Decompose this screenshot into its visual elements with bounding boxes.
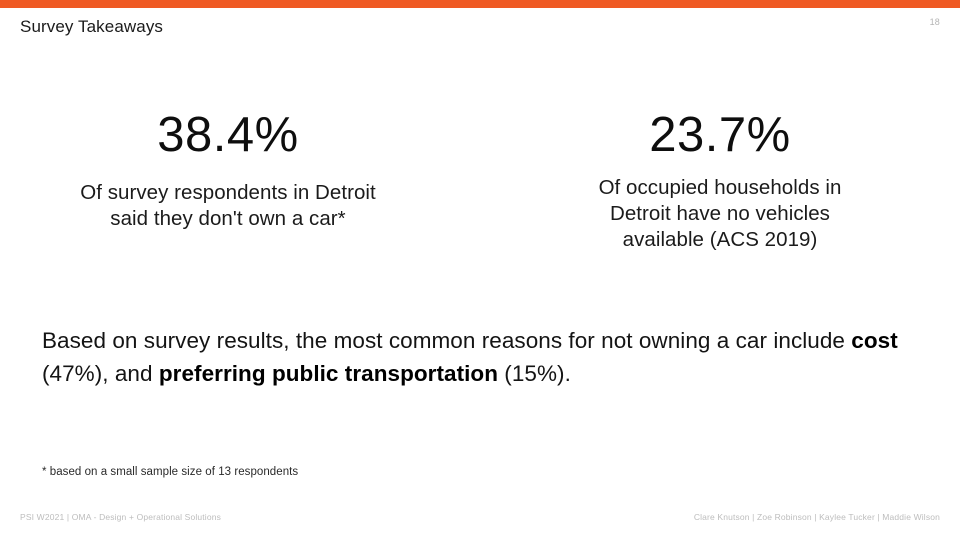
body-text-part2: (47%), and [42,361,159,386]
stat-value-occupied-households: 23.7% [510,106,930,164]
slide-canvas: Survey Takeaways 18 38.4% Of survey resp… [0,0,960,540]
stat-block-right: 23.7% Of occupied households in Detroit … [510,106,930,253]
body-text-part3: (15%). [498,361,571,386]
stat-caption-line: said they don't own a car* [18,206,438,232]
body-text-part1: Based on survey results, the most common… [42,328,851,353]
page-title: Survey Takeaways [20,17,163,37]
footnote: * based on a small sample size of 13 res… [42,466,298,478]
footer-authors: Clare Knutson | Zoe Robinson | Kaylee Tu… [694,512,940,522]
top-accent-bar [0,0,960,8]
footer-course-label: PSI W2021 | OMA - Design + Operational S… [20,512,221,522]
stat-caption-survey-respondents: Of survey respondents in Detroit said th… [18,180,438,232]
stat-caption-line: Detroit have no vehicles [510,201,930,227]
stat-caption-occupied-households: Of occupied households in Detroit have n… [510,175,930,253]
body-highlight-cost: cost [851,328,897,353]
stat-caption-line: Of survey respondents in Detroit [18,180,438,206]
stat-block-left: 38.4% Of survey respondents in Detroit s… [18,106,438,232]
page-number: 18 [930,17,940,27]
body-paragraph: Based on survey results, the most common… [42,324,922,390]
stat-value-survey-respondents: 38.4% [18,106,438,164]
body-highlight-public-transportation: preferring public transportation [159,361,498,386]
stat-caption-line: available (ACS 2019) [510,227,930,253]
stat-caption-line: Of occupied households in [510,175,930,201]
